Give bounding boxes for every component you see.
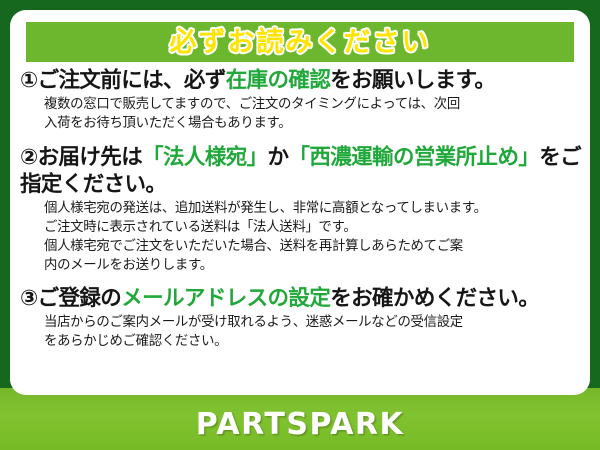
notice-item-1-heading: ①ご注文前には、必ず在庫の確認をお願いします。 <box>18 68 582 94</box>
notice-item-3-text-0: ご登録の <box>38 286 122 311</box>
notice-item-1: ①ご注文前には、必ず在庫の確認をお願いします。 複数の窓口で販売してますので、ご… <box>18 68 582 133</box>
notice-item-2-text-2: か <box>268 145 289 170</box>
notice-item-1-subline-1: 複数の窓口で販売してますので、ご注文のタイミングによっては、次回 <box>44 95 582 114</box>
notice-item-2-subtext: 個人様宅宛の発送は、追加送料が発生し、非常に高額となってしまいます。 ご注文時に… <box>18 199 582 275</box>
notice-item-3-subtext: 当店からのご案内メールが受け取れるよう、迷惑メールなどの受信設定 をあらかじめご… <box>18 313 582 351</box>
notice-item-1-subtext: 複数の窓口で販売してますので、ご注文のタイミングによっては、次回 入荷をお待ち頂… <box>18 95 582 133</box>
notice-item-2: ②お届け先は「法人様宛」か「西濃運輸の営業所止め」をご指定ください。 個人様宅宛… <box>18 145 582 275</box>
notice-banner: 必ずお読みください ①ご注文前には、必ず在庫の確認をお願いします。 複数の窓口で… <box>0 0 600 450</box>
notice-item-1-subline-2: 入荷をお待ち頂いただく場合もあります。 <box>44 114 582 133</box>
notice-item-2-text-0: お届け先は <box>38 145 143 170</box>
notice-items-list: ①ご注文前には、必ず在庫の確認をお願いします。 複数の窓口で販売してますので、ご… <box>10 68 590 357</box>
notice-item-3-number: ③ <box>20 286 38 311</box>
header-banner: 必ずお読みください <box>26 22 574 62</box>
notice-item-1-number: ① <box>20 68 38 93</box>
notice-item-2-subline-2: ご注文時に表示されている送料は「法人送料」です。 <box>44 218 582 237</box>
notice-item-3-text-2: をお確かめください。 <box>330 286 539 311</box>
notice-item-2-heading: ②お届け先は「法人様宛」か「西濃運輸の営業所止め」をご指定ください。 <box>18 145 582 197</box>
notice-item-3-heading: ③ご登録のメールアドレスの設定をお確かめください。 <box>18 286 582 312</box>
notice-item-3: ③ご登録のメールアドレスの設定をお確かめください。 当店からのご案内メールが受け… <box>18 286 582 351</box>
notice-item-1-text-2: をお願いします。 <box>330 68 495 93</box>
notice-item-3-subline-2: をあらかじめご確認ください。 <box>44 332 582 351</box>
notice-item-3-subline-1: 当店からのご案内メールが受け取れるよう、迷惑メールなどの受信設定 <box>44 313 582 332</box>
notice-item-2-number: ② <box>20 145 38 170</box>
page-title: 必ずお読みください <box>170 29 431 56</box>
notice-item-2-highlight-1: 「法人様宛」 <box>142 145 267 170</box>
notice-item-3-highlight: メールアドレスの設定 <box>121 286 330 311</box>
notice-item-2-subline-3: 個人様宅宛でご注文をいただいた場合、送料を再計算しあらためてご案 <box>44 237 582 256</box>
notice-item-2-subline-1: 個人様宅宛の発送は、追加送料が発生し、非常に高額となってしまいます。 <box>44 199 582 218</box>
brand-logo: PARTSPARK <box>0 407 600 442</box>
notice-item-2-highlight-2: 「西濃運輸の営業所止め」 <box>288 145 539 170</box>
notice-item-1-highlight: 在庫の確認 <box>226 68 331 93</box>
notice-card: 必ずお読みください ①ご注文前には、必ず在庫の確認をお願いします。 複数の窓口で… <box>10 10 590 395</box>
notice-item-1-text-0: ご注文前には、必ず <box>38 68 226 93</box>
notice-item-2-subline-4: 内のメールをお送りします。 <box>44 256 582 275</box>
